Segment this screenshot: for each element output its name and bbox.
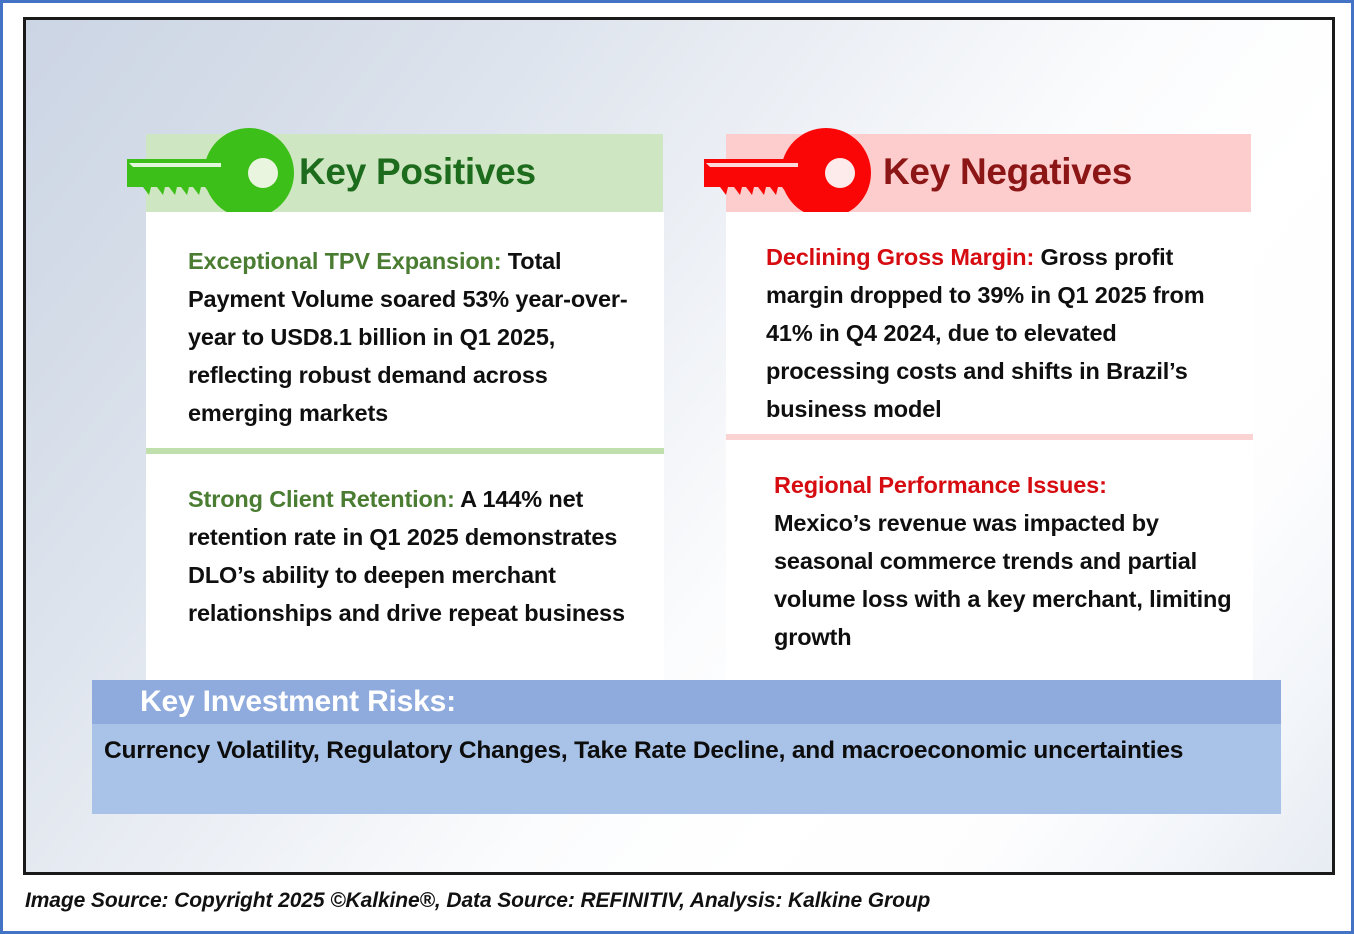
key-positives-header: Key Positives	[121, 134, 681, 212]
list-item: Regional Performance Issues:Mexico’s rev…	[774, 466, 1245, 656]
negatives-divider	[726, 434, 1253, 440]
list-item: Declining Gross Margin: Gross profit mar…	[766, 238, 1245, 428]
slide-canvas: Key Positives Key Negatives Ex	[0, 0, 1354, 934]
list-item-lead: Exceptional TPV Expansion:	[188, 248, 501, 274]
list-item-lead: Regional Performance Issues:	[774, 466, 1245, 504]
key-positives-title: Key Positives	[299, 151, 536, 193]
slide-inner-frame: Key Positives Key Negatives Ex	[23, 17, 1335, 875]
risks-body: Currency Volatility, Regulatory Changes,…	[92, 724, 1281, 814]
risks-body-text: Currency Volatility, Regulatory Changes,…	[104, 730, 1257, 771]
key-positives-panel: Exceptional TPV Expansion: Total Payment…	[146, 212, 664, 694]
key-negatives-panel: Declining Gross Margin: Gross profit mar…	[726, 212, 1253, 694]
key-icon	[698, 127, 873, 219]
list-item: Strong Client Retention: A 144% net rete…	[188, 480, 656, 632]
list-item-lead: Strong Client Retention:	[188, 486, 455, 512]
list-item-body: Gross profit margin dropped to 39% in Q1…	[766, 244, 1204, 422]
risks-header-strip: Key Investment Risks:	[92, 680, 1281, 724]
source-caption: Image Source: Copyright 2025 ©Kalkine®, …	[25, 889, 930, 913]
key-icon	[121, 127, 296, 219]
key-investment-risks-banner: Key Investment Risks: Currency Volatilit…	[92, 680, 1281, 814]
list-item-body: Total Payment Volume soared 53% year-ove…	[188, 248, 628, 426]
risks-title: Key Investment Risks:	[140, 685, 456, 719]
key-negatives-header: Key Negatives	[698, 134, 1258, 212]
list-item-body: Mexico’s revenue was impacted by seasona…	[774, 510, 1231, 650]
list-item: Exceptional TPV Expansion: Total Payment…	[188, 242, 656, 432]
positives-divider	[146, 448, 664, 454]
list-item-lead: Declining Gross Margin:	[766, 244, 1034, 270]
key-negatives-title: Key Negatives	[883, 151, 1132, 193]
